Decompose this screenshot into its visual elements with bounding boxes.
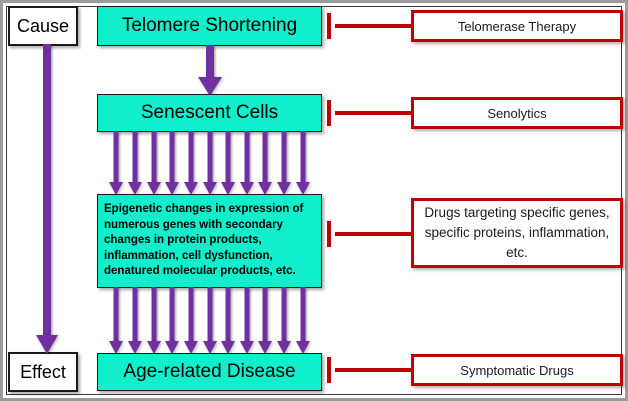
flow-arrow-icon: [202, 287, 217, 354]
arrow-shaft: [263, 131, 268, 182]
arrow-shaft: [188, 131, 193, 182]
flow-arrow-icon: [295, 131, 310, 195]
arrow-shaft: [170, 287, 175, 341]
arrow-shaft: [207, 287, 212, 341]
process-box-epigenetic-changes: Epigenetic changes in expression of nume…: [97, 194, 322, 288]
connector-line: [335, 232, 415, 236]
telomere-shortening-label: Telomere Shortening: [122, 15, 297, 37]
arrow-shaft: [206, 45, 214, 78]
label-box-cause: Cause: [8, 6, 78, 46]
process-box-senescent-cells: Senescent Cells: [97, 94, 322, 132]
process-box-telomere-shortening: Telomere Shortening: [97, 6, 322, 46]
flow-arrow-icon: [239, 287, 254, 354]
intervention-box-symptomatic-drugs: Symptomatic Drugs: [411, 354, 623, 386]
flow-arrow-icon: [109, 131, 124, 195]
connector-line: [335, 368, 415, 372]
arrow-head: [36, 335, 58, 354]
flow-arrow-icon: [146, 131, 161, 195]
arrow-shaft: [244, 131, 249, 182]
inhibition-bar-icon: [327, 357, 331, 383]
flow-arrow-icon: [202, 131, 217, 195]
telomerase-therapy-label: Telomerase Therapy: [458, 19, 576, 34]
inhibition-bar-icon: [327, 221, 331, 247]
connector-line: [335, 24, 415, 28]
flow-arrow-icon: [239, 131, 254, 195]
flow-arrow-icon: [146, 287, 161, 354]
flow-arrow-icon: [127, 287, 142, 354]
connector-line: [335, 111, 415, 115]
inhibition-bar-icon: [327, 13, 331, 39]
flow-arrow-icon: [165, 131, 180, 195]
intervention-box-senolytics: Senolytics: [411, 97, 623, 129]
drugs-targeting-specific-label: Drugs targeting specific genes, specific…: [414, 203, 620, 263]
inhibition-connector-senolytics: [327, 97, 415, 129]
epigenetic-changes-label: Epigenetic changes in expression of nume…: [104, 202, 315, 280]
arrow-shaft: [244, 287, 249, 341]
arrow-shaft: [226, 131, 231, 182]
arrow-shaft: [188, 287, 193, 341]
flow-arrow-icon: [221, 131, 236, 195]
arrow-shaft: [170, 131, 175, 182]
intervention-box-drugs-targeting-specific: Drugs targeting specific genes, specific…: [411, 198, 623, 268]
flow-arrow-icon: [221, 287, 236, 354]
inhibition-connector-symptomatic-drugs: [327, 354, 415, 386]
inhibition-connector-drugs-targeting-specific: [327, 218, 415, 250]
cause-label: Cause: [17, 16, 69, 37]
arrow-shaft: [151, 287, 156, 341]
arrow-bank-senescent-to-epigenetic: [97, 131, 322, 195]
telomere-to-senescent-arrow-icon: [198, 45, 222, 96]
flow-arrow-icon: [277, 131, 292, 195]
diagram-canvas: Cause Effect Telomere Shortening Senesce…: [0, 0, 628, 401]
arrow-shaft: [282, 287, 287, 341]
flow-arrow-icon: [183, 131, 198, 195]
intervention-box-telomerase-therapy: Telomerase Therapy: [411, 10, 623, 42]
effect-label: Effect: [20, 362, 66, 383]
senolytics-label: Senolytics: [487, 106, 546, 121]
senescent-cells-label: Senescent Cells: [141, 102, 278, 124]
flow-arrow-icon: [127, 131, 142, 195]
arrow-shaft: [263, 287, 268, 341]
arrow-shaft: [300, 287, 305, 341]
flow-arrow-icon: [258, 287, 273, 354]
arrow-shaft: [151, 131, 156, 182]
symptomatic-drugs-label: Symptomatic Drugs: [460, 363, 573, 378]
label-box-effect: Effect: [8, 352, 78, 392]
arrow-shaft: [226, 287, 231, 341]
arrow-shaft: [132, 287, 137, 341]
flow-arrow-icon: [183, 287, 198, 354]
arrow-shaft: [207, 131, 212, 182]
inhibition-connector-telomerase-therapy: [327, 10, 415, 42]
inhibition-bar-icon: [327, 100, 331, 126]
age-related-disease-label: Age-related Disease: [123, 361, 295, 383]
flow-arrow-icon: [109, 287, 124, 354]
flow-arrow-icon: [258, 131, 273, 195]
arrow-shaft: [43, 44, 51, 336]
cause-to-effect-arrow-icon: [36, 44, 58, 354]
arrow-shaft: [300, 131, 305, 182]
arrow-shaft: [282, 131, 287, 182]
arrow-shaft: [114, 131, 119, 182]
arrow-shaft: [114, 287, 119, 341]
process-box-age-related-disease: Age-related Disease: [97, 353, 322, 391]
flow-arrow-icon: [165, 287, 180, 354]
flow-arrow-icon: [295, 287, 310, 354]
flow-arrow-icon: [277, 287, 292, 354]
arrow-shaft: [132, 131, 137, 182]
arrow-bank-epigenetic-to-disease: [97, 287, 322, 354]
